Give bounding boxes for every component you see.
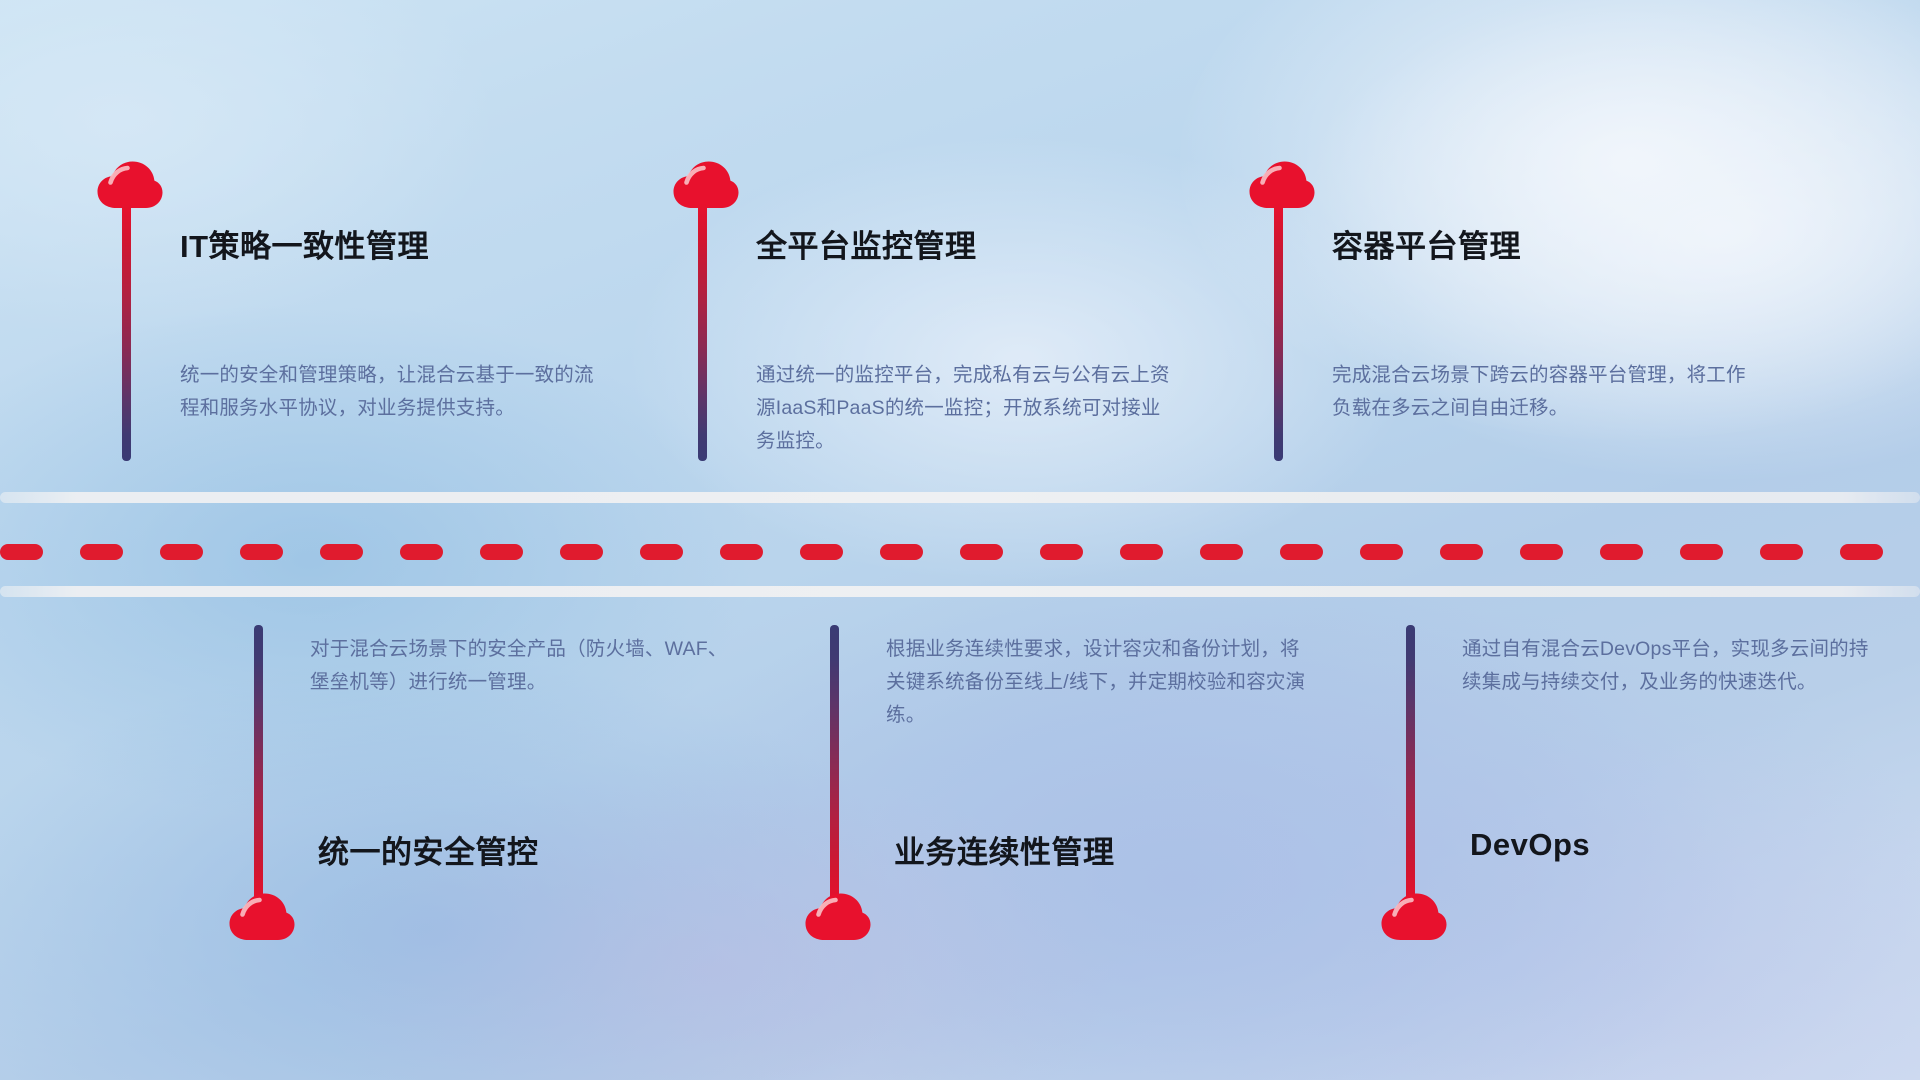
divider-dash xyxy=(720,544,763,560)
bottom-heading-1: 统一的安全管控 xyxy=(318,827,539,872)
top-body-3: 完成混合云场景下跨云的容器平台管理，将工作负载在多云之间自由迁移。 xyxy=(1332,359,1756,425)
divider-dash xyxy=(1520,544,1563,560)
divider-dash xyxy=(1440,544,1483,560)
divider-dash xyxy=(320,544,363,560)
infographic-canvas: IT策略一致性管理 统一的安全和管理策略，让混合云基于一致的流程和服务水平协议，… xyxy=(0,0,1920,1080)
cloud-icon xyxy=(804,892,872,942)
divider-rule-top xyxy=(0,492,1920,503)
divider-dash xyxy=(960,544,1003,560)
divider-dashed-line xyxy=(0,544,1920,560)
divider-dash xyxy=(1120,544,1163,560)
stem-connector xyxy=(830,625,839,905)
divider-dash xyxy=(640,544,683,560)
top-heading-2: 全平台监控管理 xyxy=(756,221,977,266)
divider-dash xyxy=(1760,544,1803,560)
top-heading-3: 容器平台管理 xyxy=(1332,221,1521,266)
stem-connector xyxy=(1406,625,1415,905)
divider-dash xyxy=(160,544,203,560)
bottom-body-2: 根据业务连续性要求，设计容灾和备份计划，将关键系统备份至线上/线下，并定期校验和… xyxy=(886,633,1310,732)
cloud-icon xyxy=(672,160,740,210)
divider-dash xyxy=(1600,544,1643,560)
cloud-icon xyxy=(96,160,164,210)
top-body-1: 统一的安全和管理策略，让混合云基于一致的流程和服务水平协议，对业务提供支持。 xyxy=(180,359,604,425)
stem-connector xyxy=(698,203,707,461)
bottom-heading-2: 业务连续性管理 xyxy=(894,827,1115,872)
cloud-icon xyxy=(1380,892,1448,942)
divider-dash xyxy=(400,544,443,560)
divider-dash xyxy=(1680,544,1723,560)
divider-dash xyxy=(1360,544,1403,560)
top-heading-1: IT策略一致性管理 xyxy=(180,221,429,266)
divider-dash xyxy=(1040,544,1083,560)
stem-connector xyxy=(1274,203,1283,461)
divider-dash xyxy=(80,544,123,560)
divider-dash xyxy=(1840,544,1883,560)
divider-dash xyxy=(1200,544,1243,560)
bottom-heading-3: DevOps xyxy=(1470,827,1590,863)
cloud-icon xyxy=(1248,160,1316,210)
divider-dash xyxy=(0,544,43,560)
divider-dash xyxy=(880,544,923,560)
divider-dash xyxy=(480,544,523,560)
cloud-icon xyxy=(228,892,296,942)
divider-dash xyxy=(1280,544,1323,560)
stem-connector xyxy=(254,625,263,905)
divider-rule-bottom xyxy=(0,586,1920,597)
divider-dash xyxy=(800,544,843,560)
divider-dash xyxy=(240,544,283,560)
background-glow-purple xyxy=(300,760,1120,1080)
divider-dash xyxy=(560,544,603,560)
stem-connector xyxy=(122,203,131,461)
bottom-body-3: 通过自有混合云DevOps平台，实现多云间的持续集成与持续交付，及业务的快速迭代… xyxy=(1462,633,1886,699)
top-body-2: 通过统一的监控平台，完成私有云与公有云上资源IaaS和PaaS的统一监控；开放系… xyxy=(756,359,1180,458)
bottom-body-1: 对于混合云场景下的安全产品（防火墙、WAF、堡垒机等）进行统一管理。 xyxy=(310,633,734,699)
